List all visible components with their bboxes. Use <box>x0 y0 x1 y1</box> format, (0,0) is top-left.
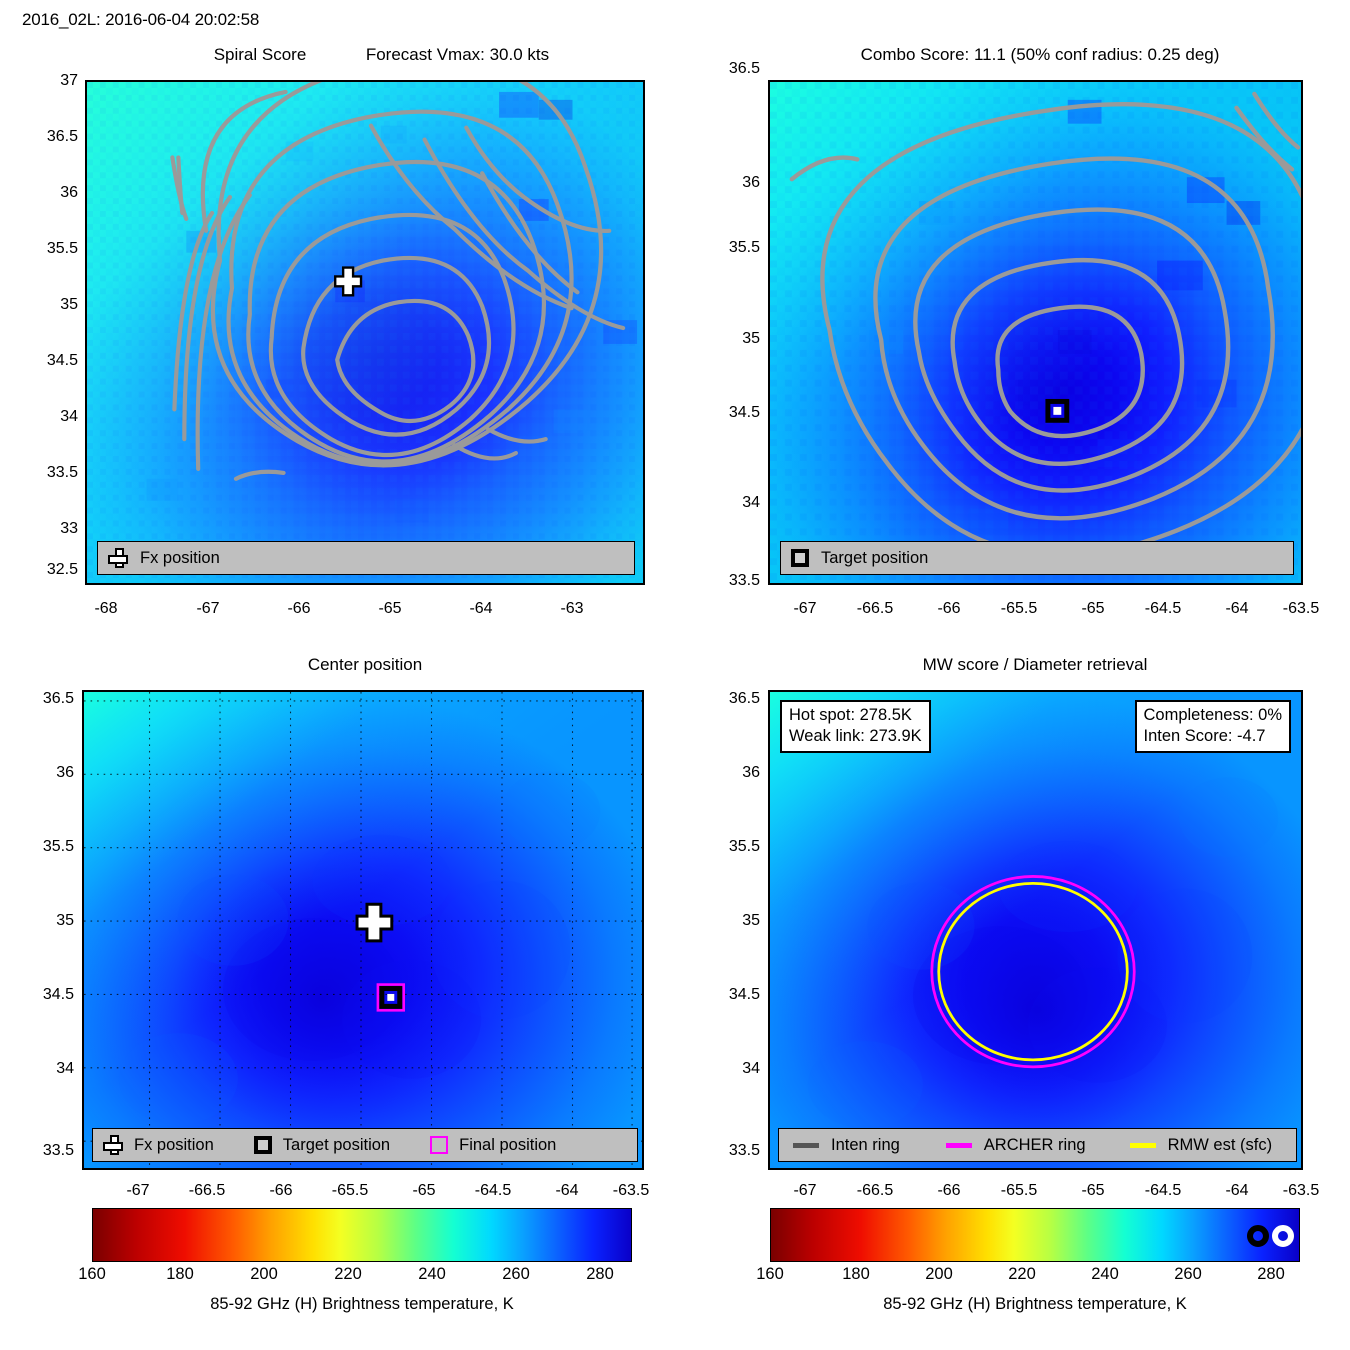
mwscore-xtick-6: -64 <box>1209 1182 1265 1200</box>
center-xtick-3: -65.5 <box>315 1182 385 1200</box>
center-xtick-1: -66.5 <box>172 1182 242 1200</box>
legend-item-target-position: Target position <box>254 1136 390 1155</box>
cbar-left-title: 85-92 GHz (H) Brightness temperature, K <box>92 1295 632 1314</box>
mwscore-xtick-0: -67 <box>777 1182 833 1200</box>
mw-score-field <box>770 692 1301 1168</box>
mwscore-ytick-3: 35 <box>710 912 760 930</box>
legend-item-fx-position: Fx position <box>108 548 220 568</box>
figure-title: 2016_02L: 2016-06-04 20:02:58 <box>22 10 259 30</box>
archer-figure: 2016_02L: 2016-06-04 20:02:58 Spiral Sco… <box>0 0 1350 1350</box>
combo-legend: Target position <box>780 541 1294 575</box>
combo-ytick-3: 35 <box>710 330 760 348</box>
combo-xtick-0: -67 <box>777 600 833 618</box>
combo-ytick-0: 36.5 <box>700 60 760 78</box>
cbar-left-tick-4: 240 <box>404 1265 460 1284</box>
hot-spot-marker <box>1275 1228 1291 1244</box>
spiral-ytick-9: 32.5 <box>18 561 78 579</box>
center-position-axes[interactable]: Fx position Target position Final positi… <box>82 690 644 1170</box>
mwscore-ytick-1: 36 <box>710 764 760 782</box>
completeness-infobox: Completeness: 0% Inten Score: -4.7 <box>1135 700 1292 753</box>
center-xtick-2: -66 <box>253 1182 309 1200</box>
completeness-value: Completeness: 0% <box>1144 705 1283 726</box>
mwscore-ytick-2: 35.5 <box>700 838 760 856</box>
legend-label: Inten ring <box>831 1136 900 1155</box>
legend-label: RMW est (sfc) <box>1168 1136 1273 1155</box>
legend-item-archer-ring: ARCHER ring <box>946 1136 1086 1155</box>
legend-label: Fx position <box>140 549 220 568</box>
combo-score-field <box>770 82 1301 583</box>
hot-spot-infobox: Hot spot: 278.5K Weak link: 273.9K <box>780 700 931 753</box>
legend-label: Fx position <box>134 1136 214 1155</box>
mwscore-ytick-6: 33.5 <box>700 1142 760 1160</box>
spiral-legend: Fx position <box>97 541 635 575</box>
spiral-ytick-8: 33 <box>28 520 78 538</box>
mwscore-xtick-5: -64.5 <box>1128 1182 1198 1200</box>
mwscore-ytick-4: 34.5 <box>700 986 760 1004</box>
spiral-vmax-title: Forecast Vmax: 30.0 kts <box>350 45 565 65</box>
cbar-right-tick-1: 180 <box>828 1265 884 1284</box>
cbar-right-tick-5: 260 <box>1160 1265 1216 1284</box>
mwscore-legend: Inten ring ARCHER ring RMW est (sfc) <box>778 1128 1297 1162</box>
center-position-field <box>84 692 642 1168</box>
hot-spot-value: Hot spot: 278.5K <box>789 705 922 726</box>
cbar-right-title: 85-92 GHz (H) Brightness temperature, K <box>770 1295 1300 1314</box>
center-ytick-2: 35.5 <box>14 838 74 856</box>
cbar-left-tick-6: 280 <box>572 1265 628 1284</box>
center-xtick-0: -67 <box>110 1182 166 1200</box>
mwscore-xtick-3: -65.5 <box>984 1182 1054 1200</box>
combo-ytick-4: 34.5 <box>700 404 760 422</box>
combo-ytick-2: 35.5 <box>700 239 760 257</box>
legend-label: Final position <box>459 1136 556 1155</box>
cbar-left-tick-5: 260 <box>488 1265 544 1284</box>
combo-xtick-6: -64 <box>1209 600 1265 618</box>
center-ytick-3: 35 <box>24 912 74 930</box>
cross-icon <box>103 1135 123 1155</box>
cbar-right-tick-2: 200 <box>911 1265 967 1284</box>
mwscore-ytick-5: 34 <box>710 1060 760 1078</box>
cbar-left-tick-3: 220 <box>320 1265 376 1284</box>
spiral-xtick-4: -64 <box>453 600 509 618</box>
combo-xtick-1: -66.5 <box>840 600 910 618</box>
legend-label: Target position <box>821 549 928 568</box>
spiral-ytick-4: 35 <box>28 296 78 314</box>
colorbar-right-markers <box>771 1209 1301 1263</box>
legend-item-final-position: Final position <box>430 1136 556 1155</box>
legend-label: ARCHER ring <box>984 1136 1086 1155</box>
inten-score-value: Inten Score: -4.7 <box>1144 726 1283 747</box>
mwscore-xtick-2: -66 <box>921 1182 977 1200</box>
spiral-xtick-2: -66 <box>271 600 327 618</box>
weak-link-value: Weak link: 273.9K <box>789 726 922 747</box>
center-legend: Fx position Target position Final positi… <box>92 1128 638 1162</box>
combo-xtick-3: -65.5 <box>984 600 1054 618</box>
mwscore-xtick-7: -63.5 <box>1266 1182 1336 1200</box>
spiral-panel-title: Spiral Score <box>170 45 350 65</box>
center-xtick-4: -65 <box>396 1182 452 1200</box>
spiral-score-field <box>87 82 643 583</box>
combo-xtick-2: -66 <box>921 600 977 618</box>
combo-xtick-4: -65 <box>1065 600 1121 618</box>
combo-ytick-6: 33.5 <box>700 572 760 590</box>
center-xtick-5: -64.5 <box>458 1182 528 1200</box>
center-ytick-4: 34.5 <box>14 986 74 1004</box>
spiral-ytick-6: 34 <box>28 408 78 426</box>
mwscore-ytick-0: 36.5 <box>700 690 760 708</box>
spiral-xtick-1: -67 <box>180 600 236 618</box>
combo-panel-title: Combo Score: 11.1 (50% conf radius: 0.25… <box>760 45 1320 65</box>
weak-link-marker <box>1250 1228 1266 1244</box>
center-xtick-6: -64 <box>539 1182 595 1200</box>
line-icon <box>1130 1143 1156 1148</box>
colorbar-left[interactable] <box>92 1208 632 1262</box>
cbar-right-tick-0: 160 <box>742 1265 798 1284</box>
legend-item-target-position: Target position <box>791 549 928 568</box>
center-panel-title: Center position <box>240 655 490 675</box>
spiral-ytick-1: 36.5 <box>18 128 78 146</box>
legend-item-rmw-est: RMW est (sfc) <box>1130 1136 1273 1155</box>
square-icon <box>254 1136 272 1154</box>
spiral-xtick-5: -63 <box>544 600 600 618</box>
cbar-right-tick-4: 240 <box>1077 1265 1133 1284</box>
center-ytick-5: 34 <box>24 1060 74 1078</box>
line-icon <box>793 1143 819 1148</box>
spiral-ytick-2: 36 <box>28 184 78 202</box>
spiral-ytick-0: 37 <box>28 72 78 90</box>
legend-item-fx-position: Fx position <box>103 1135 214 1155</box>
combo-ytick-5: 34 <box>710 494 760 512</box>
combo-ytick-1: 36 <box>710 174 760 192</box>
colorbar-right[interactable] <box>770 1208 1300 1262</box>
combo-xtick-5: -64.5 <box>1128 600 1198 618</box>
cbar-right-tick-3: 220 <box>994 1265 1050 1284</box>
center-ytick-6: 33.5 <box>14 1142 74 1160</box>
combo-score-axes[interactable]: Target position <box>768 80 1303 585</box>
spiral-xtick-3: -65 <box>362 600 418 618</box>
line-icon <box>946 1143 972 1148</box>
cbar-left-tick-0: 160 <box>64 1265 120 1284</box>
spiral-ytick-7: 33.5 <box>18 464 78 482</box>
spiral-ytick-3: 35.5 <box>18 240 78 258</box>
mw-score-axes[interactable]: Hot spot: 278.5K Weak link: 273.9K Compl… <box>768 690 1303 1170</box>
mwscore-xtick-4: -65 <box>1065 1182 1121 1200</box>
magenta-square-icon <box>430 1136 448 1154</box>
legend-label: Target position <box>283 1136 390 1155</box>
center-ytick-1: 36 <box>24 764 74 782</box>
center-ytick-0: 36.5 <box>14 690 74 708</box>
cbar-right-tick-6: 280 <box>1243 1265 1299 1284</box>
legend-item-inten-ring: Inten ring <box>793 1136 900 1155</box>
spiral-xtick-0: -68 <box>78 600 134 618</box>
mwscore-panel-title: MW score / Diameter retrieval <box>835 655 1235 675</box>
square-icon <box>791 549 809 567</box>
mwscore-xtick-1: -66.5 <box>840 1182 910 1200</box>
cross-icon <box>108 548 128 568</box>
cbar-left-tick-1: 180 <box>152 1265 208 1284</box>
combo-xtick-7: -63.5 <box>1266 600 1336 618</box>
spiral-score-axes[interactable]: Fx position <box>85 80 645 585</box>
spiral-ytick-5: 34.5 <box>18 352 78 370</box>
cbar-left-tick-2: 200 <box>236 1265 292 1284</box>
center-xtick-7: -63.5 <box>596 1182 666 1200</box>
